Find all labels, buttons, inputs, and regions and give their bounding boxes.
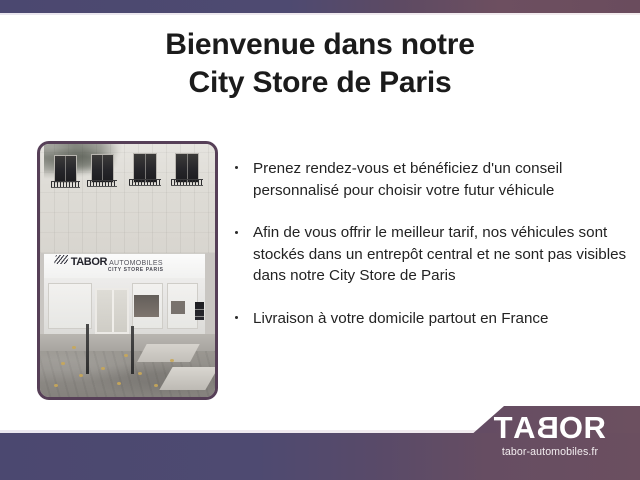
shop-window-pane (48, 283, 91, 330)
fallen-leaf (101, 367, 105, 370)
bullet-list: Prenez rendez-vous et bénéficiez d'un co… (232, 158, 630, 329)
balcony-railing (129, 179, 161, 186)
panel-lines (195, 304, 205, 316)
chevron-marks-icon (54, 255, 69, 264)
window-mullion (102, 155, 103, 182)
title-line-2: City Store de Paris (0, 64, 640, 102)
bullet-dot-icon (235, 231, 238, 234)
logo-letter-b: B (536, 412, 559, 443)
top-band-hairline (0, 13, 640, 15)
bullet-dot-icon (235, 316, 238, 319)
storefront-photo: TABOR AUTOMOBILES CITY STORE PARIS (40, 144, 215, 397)
brand-logo: T A B O R tabor-automobiles.fr (470, 412, 630, 458)
shop-entrance-door (95, 288, 129, 334)
storefront-sign-suffix: AUTOMOBILES (109, 260, 163, 267)
balcony-railing (87, 180, 117, 187)
fallen-leaf (170, 359, 174, 362)
storefront-sign-brand: TABOR (71, 257, 107, 268)
facade-window (54, 155, 77, 183)
window-mullion (65, 156, 66, 182)
shop-interior-furniture (171, 301, 185, 313)
logo-letter-t: T (494, 412, 513, 443)
logo-letter-r: R (583, 412, 606, 443)
street-bollard (131, 326, 134, 374)
curb-stone (137, 344, 199, 362)
title-line-1: Bienvenue dans notre (165, 28, 474, 61)
balcony-railing (171, 179, 203, 186)
brand-logo-wordmark: T A B O R (470, 412, 630, 443)
storefront-sign: TABOR AUTOMOBILES CITY STORE PARIS (44, 253, 205, 280)
building-facade (40, 144, 215, 253)
door-split (112, 290, 114, 332)
page-title: Bienvenue dans notre City Store de Paris (0, 26, 640, 103)
street-bollard (86, 324, 89, 375)
storefront-sign-main: TABOR AUTOMOBILES (55, 256, 163, 268)
storefront-photo-frame: TABOR AUTOMOBILES CITY STORE PARIS (37, 141, 218, 400)
bullet-dot-icon (235, 166, 238, 169)
fallen-leaf (138, 372, 142, 375)
list-item: Prenez rendez-vous et bénéficiez d'un co… (232, 158, 630, 201)
storefront-sign-subtitle: CITY STORE PARIS (108, 268, 164, 273)
facade-window (91, 154, 114, 183)
list-item-text: Afin de vous offrir le meilleur tarif, n… (253, 224, 626, 284)
list-item-text: Prenez rendez-vous et bénéficiez d'un co… (253, 160, 562, 199)
list-item: Livraison à votre domicile partout en Fr… (232, 308, 630, 330)
slide: Bienvenue dans notre City Store de Paris (0, 0, 640, 480)
logo-letter-a: A (513, 412, 536, 443)
shop-front (44, 278, 205, 335)
neighbouring-shop-panel (195, 302, 205, 320)
fallen-leaf (61, 362, 65, 365)
list-item-text: Livraison à votre domicile partout en Fr… (253, 310, 548, 327)
fallen-leaf (79, 374, 83, 377)
shop-interior-furniture (134, 295, 160, 317)
fallen-leaf (117, 382, 121, 385)
list-item: Afin de vous offrir le meilleur tarif, n… (232, 222, 630, 287)
fallen-leaf (124, 354, 128, 357)
brand-logo-tagline: tabor-automobiles.fr (470, 447, 630, 458)
logo-letter-o: O (559, 412, 584, 443)
top-accent-band (0, 0, 640, 13)
balcony-railing (51, 181, 81, 188)
